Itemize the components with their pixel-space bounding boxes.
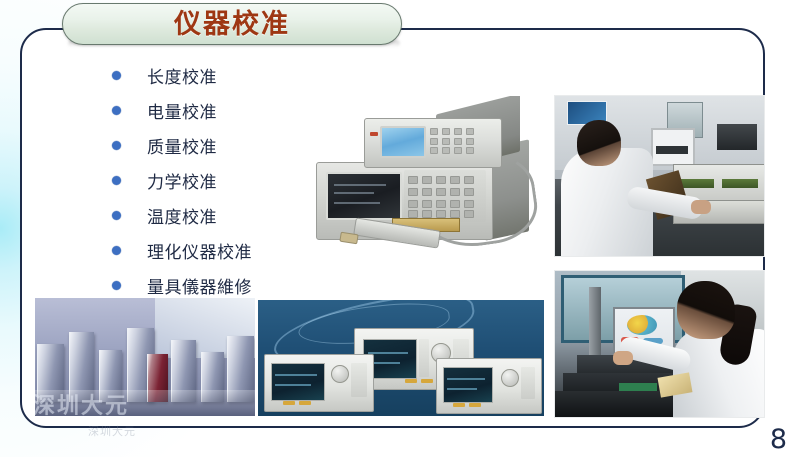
list-item-label: 质量校准 xyxy=(147,133,217,158)
port-indicator xyxy=(421,379,433,383)
analyzer-keypad xyxy=(521,367,535,399)
photo-gauge-blocks: 深圳大元 xyxy=(35,298,255,416)
slide-watermark: 深圳大元 xyxy=(88,423,136,439)
bullet-dot-icon xyxy=(112,246,121,255)
shelf-equipment-dark xyxy=(717,124,757,150)
analyzer-display xyxy=(326,172,402,220)
list-item[interactable]: 长度校准 xyxy=(112,58,332,93)
port-indicator xyxy=(453,403,465,407)
measuring-machine-column xyxy=(589,287,601,365)
display-graphic xyxy=(627,315,657,335)
slide-canvas: 仪器校准 长度校准 电量校准 质量校准 力学校准 温度校准 理化仪器校准 xyxy=(0,0,799,457)
generator-display xyxy=(380,126,426,158)
list-item-label: 力学校准 xyxy=(147,168,217,193)
analyzer-keypad xyxy=(351,363,367,397)
generator-keypad xyxy=(428,126,486,154)
list-item-label: 理化仪器校准 xyxy=(147,238,252,263)
photo-technician-at-bench xyxy=(554,95,765,257)
bullet-dot-icon xyxy=(112,141,121,150)
bench-monitor xyxy=(651,128,695,166)
analyzer-display xyxy=(271,363,325,401)
technician-head xyxy=(577,120,621,166)
list-item-label: 长度校准 xyxy=(147,63,217,88)
photo-network-analyzers xyxy=(258,300,544,416)
port-indicator xyxy=(299,401,311,405)
port-indicator xyxy=(469,403,481,407)
rotary-knob xyxy=(331,365,349,383)
analyzer-softkeys xyxy=(419,339,429,377)
bullet-dot-icon xyxy=(112,281,121,290)
rotary-knob xyxy=(501,369,519,387)
analyzer-display xyxy=(443,367,493,403)
list-item-label: 量具儀器維修 xyxy=(147,273,252,298)
bullet-dot-icon xyxy=(112,71,121,80)
page-number: 8 xyxy=(770,426,787,453)
network-analyzer-right xyxy=(436,358,542,414)
photo-technician-vision-measuring xyxy=(554,270,765,418)
technician-head xyxy=(677,281,735,339)
technician-hand xyxy=(691,200,711,214)
photo-instrument-stack xyxy=(296,96,548,264)
bullet-dot-icon xyxy=(112,106,121,115)
power-led-icon xyxy=(370,132,378,136)
probe-tip xyxy=(339,232,358,245)
list-item-label: 电量校准 xyxy=(147,98,217,123)
photo-watermark: 深圳大元 xyxy=(35,388,129,416)
title-pill: 仪器校准 xyxy=(62,3,402,45)
port-indicator xyxy=(405,379,417,383)
network-analyzer-left xyxy=(264,354,374,412)
technician-hand xyxy=(613,351,633,365)
list-item-label: 温度校准 xyxy=(147,203,217,228)
bullet-dot-icon xyxy=(112,176,121,185)
port-indicator xyxy=(283,401,295,405)
bullet-dot-icon xyxy=(112,211,121,220)
page-title: 仪器校准 xyxy=(174,11,290,38)
